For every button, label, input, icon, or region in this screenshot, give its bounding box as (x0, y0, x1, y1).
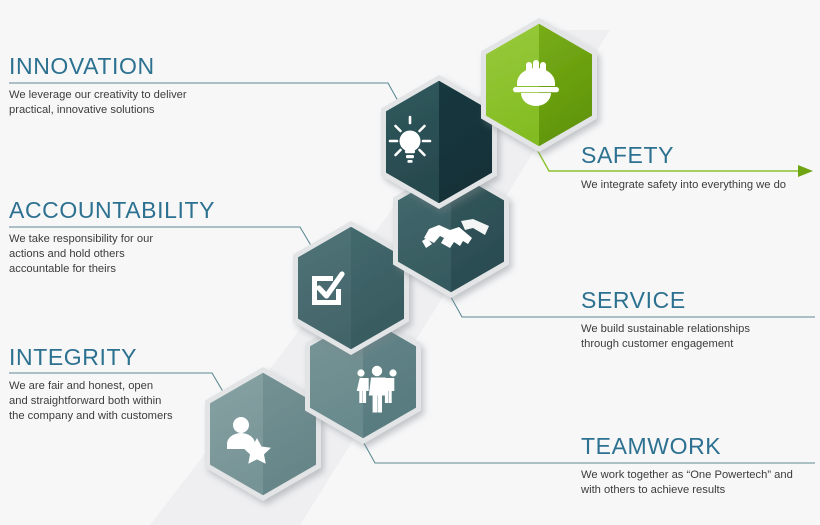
hexagon-safety[interactable] (480, 18, 597, 152)
value-title-accountability: ACCOUNTABILITY (9, 199, 215, 222)
value-desc-teamwork: We work together as “One Powertech” and … (581, 468, 793, 498)
value-desc-safety: We integrate safety into everything we d… (581, 178, 786, 193)
value-desc-integrity: We are fair and honest, open and straigh… (9, 379, 173, 425)
value-title-service: SERVICE (581, 289, 686, 312)
value-desc-innovation: We leverage our creativity to deliver pr… (9, 88, 187, 118)
value-desc-service: We build sustainable relationships throu… (581, 322, 750, 352)
infographic-canvas: INNOVATION We leverage our creativity to… (0, 0, 820, 525)
value-title-safety: SAFETY (581, 144, 674, 167)
value-title-innovation: INNOVATION (9, 55, 155, 78)
hexagon-integrity[interactable] (204, 367, 321, 501)
value-title-integrity: INTEGRITY (9, 346, 137, 369)
value-title-teamwork: TEAMWORK (581, 435, 721, 458)
value-desc-accountability: We take responsibility for our actions a… (9, 232, 153, 278)
